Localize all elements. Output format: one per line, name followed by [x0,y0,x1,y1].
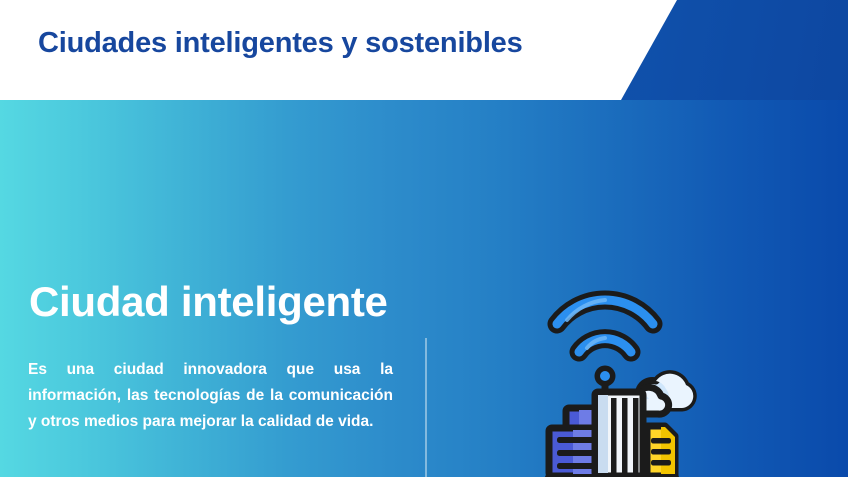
slide-body: Ciudad inteligente Es una ciudad innovad… [0,100,848,477]
right-building [647,426,675,476]
slide-header-title: Ciudades inteligentes y sostenibles [38,27,523,60]
main-heading: Ciudad inteligente [29,278,388,326]
vertical-divider [425,338,427,477]
slide-canvas: Ciudades inteligentes y sostenibles Ciud… [0,0,848,477]
smart-city-wifi-icon [543,280,703,477]
center-building [595,392,643,476]
description-paragraph: Es una ciudad innovadora que usa la info… [28,357,393,435]
slide-header: Ciudades inteligentes y sostenibles [0,0,848,100]
